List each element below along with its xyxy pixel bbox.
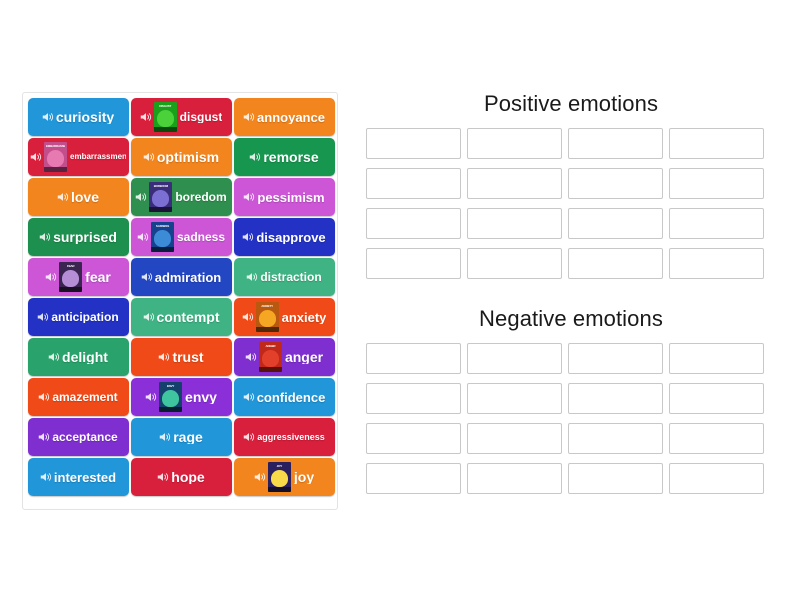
word-tile-boredom[interactable]: BOREDOMboredom bbox=[131, 178, 232, 216]
word-tile-label: anticipation bbox=[51, 311, 118, 323]
speaker-icon bbox=[242, 311, 254, 323]
word-tile-love[interactable]: love bbox=[28, 178, 129, 216]
word-tile-remorse[interactable]: remorse bbox=[234, 138, 335, 176]
category-positive-emotions: Positive emotions bbox=[366, 92, 776, 279]
drop-slot-negative-10[interactable] bbox=[467, 423, 562, 454]
word-tile-label: fear bbox=[85, 270, 111, 284]
anger-poster-thumbnail-icon: ANGER bbox=[259, 342, 282, 372]
drop-slot-negative-1[interactable] bbox=[366, 343, 461, 374]
drop-slot-positive-4[interactable] bbox=[669, 128, 764, 159]
drop-slot-negative-9[interactable] bbox=[366, 423, 461, 454]
joy-poster-thumbnail-icon: JOY bbox=[268, 462, 291, 492]
drop-slot-positive-16[interactable] bbox=[669, 248, 764, 279]
word-tile-label: acceptance bbox=[52, 431, 117, 443]
drop-slot-positive-6[interactable] bbox=[467, 168, 562, 199]
word-tile-label: remorse bbox=[263, 150, 318, 164]
word-tile-surprised[interactable]: surprised bbox=[28, 218, 129, 256]
fear-poster-thumbnail-icon: FEAR bbox=[59, 262, 82, 292]
drop-slot-negative-8[interactable] bbox=[669, 383, 764, 414]
drop-slot-negative-6[interactable] bbox=[467, 383, 562, 414]
speaker-icon bbox=[57, 191, 69, 203]
word-tile-label: disapprove bbox=[256, 231, 325, 244]
speaker-icon bbox=[137, 231, 149, 243]
word-tile-label: hope bbox=[171, 470, 204, 484]
drop-slot-grid-negative bbox=[366, 343, 776, 494]
word-tile-label: rage bbox=[173, 430, 203, 444]
speaker-icon bbox=[254, 471, 266, 483]
drop-slot-negative-13[interactable] bbox=[366, 463, 461, 494]
speaker-icon bbox=[243, 111, 255, 123]
word-tile-amazement[interactable]: amazement bbox=[28, 378, 129, 416]
drop-slot-negative-16[interactable] bbox=[669, 463, 764, 494]
word-tile-label: anger bbox=[285, 350, 323, 364]
speaker-icon bbox=[159, 431, 171, 443]
category-negative-emotions: Negative emotions bbox=[366, 307, 776, 494]
speaker-icon bbox=[39, 231, 51, 243]
word-tile-label: annoyance bbox=[257, 111, 325, 124]
sadness-poster-thumbnail-icon: SADNESS bbox=[151, 222, 174, 252]
speaker-icon bbox=[37, 311, 49, 323]
word-tile-pessimism[interactable]: pessimism bbox=[234, 178, 335, 216]
word-tile-sadness[interactable]: SADNESSsadness bbox=[131, 218, 232, 256]
word-tile-label: interested bbox=[54, 471, 116, 484]
word-tile-grid: curiosityDISGUSTdisgustannoyanceEMBARRAS… bbox=[28, 98, 333, 496]
drop-slot-grid-positive bbox=[366, 128, 776, 279]
drop-slot-positive-2[interactable] bbox=[467, 128, 562, 159]
word-tile-label: delight bbox=[62, 350, 108, 364]
word-tile-acceptance[interactable]: acceptance bbox=[28, 418, 129, 456]
speaker-icon bbox=[246, 271, 258, 283]
drop-slot-positive-9[interactable] bbox=[366, 208, 461, 239]
word-tile-interested[interactable]: interested bbox=[28, 458, 129, 496]
speaker-icon bbox=[48, 351, 60, 363]
speaker-icon bbox=[143, 311, 155, 323]
drop-slot-negative-5[interactable] bbox=[366, 383, 461, 414]
word-tile-label: envy bbox=[185, 390, 217, 404]
category-title-positive: Positive emotions bbox=[366, 92, 776, 116]
drop-slot-negative-4[interactable] bbox=[669, 343, 764, 374]
drop-slot-negative-2[interactable] bbox=[467, 343, 562, 374]
word-tile-panel: curiosityDISGUSTdisgustannoyanceEMBARRAS… bbox=[22, 92, 338, 510]
word-tile-contempt[interactable]: contempt bbox=[131, 298, 232, 336]
drop-slot-positive-13[interactable] bbox=[366, 248, 461, 279]
word-tile-label: surprised bbox=[53, 230, 117, 244]
speaker-icon bbox=[140, 111, 152, 123]
speaker-icon bbox=[30, 151, 42, 163]
speaker-icon bbox=[243, 191, 255, 203]
word-tile-embarrassment[interactable]: EMBARRASSMENTembarrassment bbox=[28, 138, 129, 176]
speaker-icon bbox=[38, 431, 50, 443]
word-tile-label: optimism bbox=[157, 150, 219, 164]
word-tile-label: distraction bbox=[260, 271, 321, 283]
drop-slot-positive-7[interactable] bbox=[568, 168, 663, 199]
word-tile-distraction[interactable]: distraction bbox=[234, 258, 335, 296]
disgust-poster-thumbnail-icon: DISGUST bbox=[154, 102, 177, 132]
word-tile-disgust[interactable]: DISGUSTdisgust bbox=[131, 98, 232, 136]
speaker-icon bbox=[243, 391, 255, 403]
word-tile-label: boredom bbox=[175, 191, 226, 203]
word-tile-rage[interactable]: rage bbox=[131, 418, 232, 456]
drop-slot-positive-11[interactable] bbox=[568, 208, 663, 239]
speaker-icon bbox=[242, 231, 254, 243]
drop-slot-positive-8[interactable] bbox=[669, 168, 764, 199]
activity-canvas: curiosityDISGUSTdisgustannoyanceEMBARRAS… bbox=[0, 0, 800, 600]
speaker-icon bbox=[141, 271, 153, 283]
word-tile-confidence[interactable]: confidence bbox=[234, 378, 335, 416]
speaker-icon bbox=[45, 271, 57, 283]
word-tile-disapprove[interactable]: disapprove bbox=[234, 218, 335, 256]
embarrassment-poster-thumbnail-icon: EMBARRASSMENT bbox=[44, 142, 67, 172]
word-tile-label: trust bbox=[172, 350, 203, 364]
speaker-icon bbox=[245, 351, 257, 363]
drop-slot-positive-10[interactable] bbox=[467, 208, 562, 239]
drop-slot-negative-15[interactable] bbox=[568, 463, 663, 494]
word-tile-anger[interactable]: ANGERanger bbox=[234, 338, 335, 376]
word-tile-label: disgust bbox=[180, 111, 223, 123]
drop-slot-negative-12[interactable] bbox=[669, 423, 764, 454]
word-tile-label: contempt bbox=[157, 310, 220, 324]
word-tile-admiration[interactable]: admiration bbox=[131, 258, 232, 296]
drop-slot-positive-3[interactable] bbox=[568, 128, 663, 159]
word-tile-envy[interactable]: ENVYenvy bbox=[131, 378, 232, 416]
speaker-icon bbox=[243, 431, 255, 443]
word-tile-label: aggressiveness bbox=[257, 433, 325, 442]
drop-slot-negative-14[interactable] bbox=[467, 463, 562, 494]
boredom-poster-thumbnail-icon: BOREDOM bbox=[149, 182, 172, 212]
word-tile-delight[interactable]: delight bbox=[28, 338, 129, 376]
speaker-icon bbox=[158, 351, 170, 363]
word-tile-fear[interactable]: FEARfear bbox=[28, 258, 129, 296]
envy-poster-thumbnail-icon: ENVY bbox=[159, 382, 182, 412]
anxiety-poster-thumbnail-icon: ANXIETY bbox=[256, 302, 279, 332]
word-tile-aggressiveness[interactable]: aggressiveness bbox=[234, 418, 335, 456]
word-tile-label: amazement bbox=[52, 391, 117, 403]
drop-slot-negative-11[interactable] bbox=[568, 423, 663, 454]
speaker-icon bbox=[145, 391, 157, 403]
word-tile-label: anxiety bbox=[282, 311, 327, 324]
word-tile-label: embarrassment bbox=[70, 153, 126, 161]
speaker-icon bbox=[157, 471, 169, 483]
word-tile-anticipation[interactable]: anticipation bbox=[28, 298, 129, 336]
word-tile-label: love bbox=[71, 190, 99, 204]
word-tile-joy[interactable]: JOYjoy bbox=[234, 458, 335, 496]
speaker-icon bbox=[249, 151, 261, 163]
word-tile-hope[interactable]: hope bbox=[131, 458, 232, 496]
word-tile-label: joy bbox=[294, 470, 314, 484]
speaker-icon bbox=[38, 391, 50, 403]
word-tile-optimism[interactable]: optimism bbox=[131, 138, 232, 176]
word-tile-label: curiosity bbox=[56, 110, 114, 124]
word-tile-label: admiration bbox=[155, 271, 221, 284]
word-tile-label: confidence bbox=[257, 391, 326, 404]
drop-slot-positive-5[interactable] bbox=[366, 168, 461, 199]
word-tile-label: pessimism bbox=[257, 191, 324, 204]
speaker-icon bbox=[143, 151, 155, 163]
word-tile-curiosity[interactable]: curiosity bbox=[28, 98, 129, 136]
category-title-negative: Negative emotions bbox=[366, 307, 776, 331]
speaker-icon bbox=[40, 471, 52, 483]
word-tile-label: sadness bbox=[177, 231, 225, 243]
word-tile-annoyance[interactable]: annoyance bbox=[234, 98, 335, 136]
drop-slot-positive-1[interactable] bbox=[366, 128, 461, 159]
drop-slot-negative-3[interactable] bbox=[568, 343, 663, 374]
speaker-icon bbox=[135, 191, 147, 203]
word-tile-trust[interactable]: trust bbox=[131, 338, 232, 376]
drop-slot-positive-12[interactable] bbox=[669, 208, 764, 239]
drop-slot-positive-15[interactable] bbox=[568, 248, 663, 279]
drop-slot-positive-14[interactable] bbox=[467, 248, 562, 279]
word-tile-anxiety[interactable]: ANXIETYanxiety bbox=[234, 298, 335, 336]
speaker-icon bbox=[42, 111, 54, 123]
drop-slot-negative-7[interactable] bbox=[568, 383, 663, 414]
